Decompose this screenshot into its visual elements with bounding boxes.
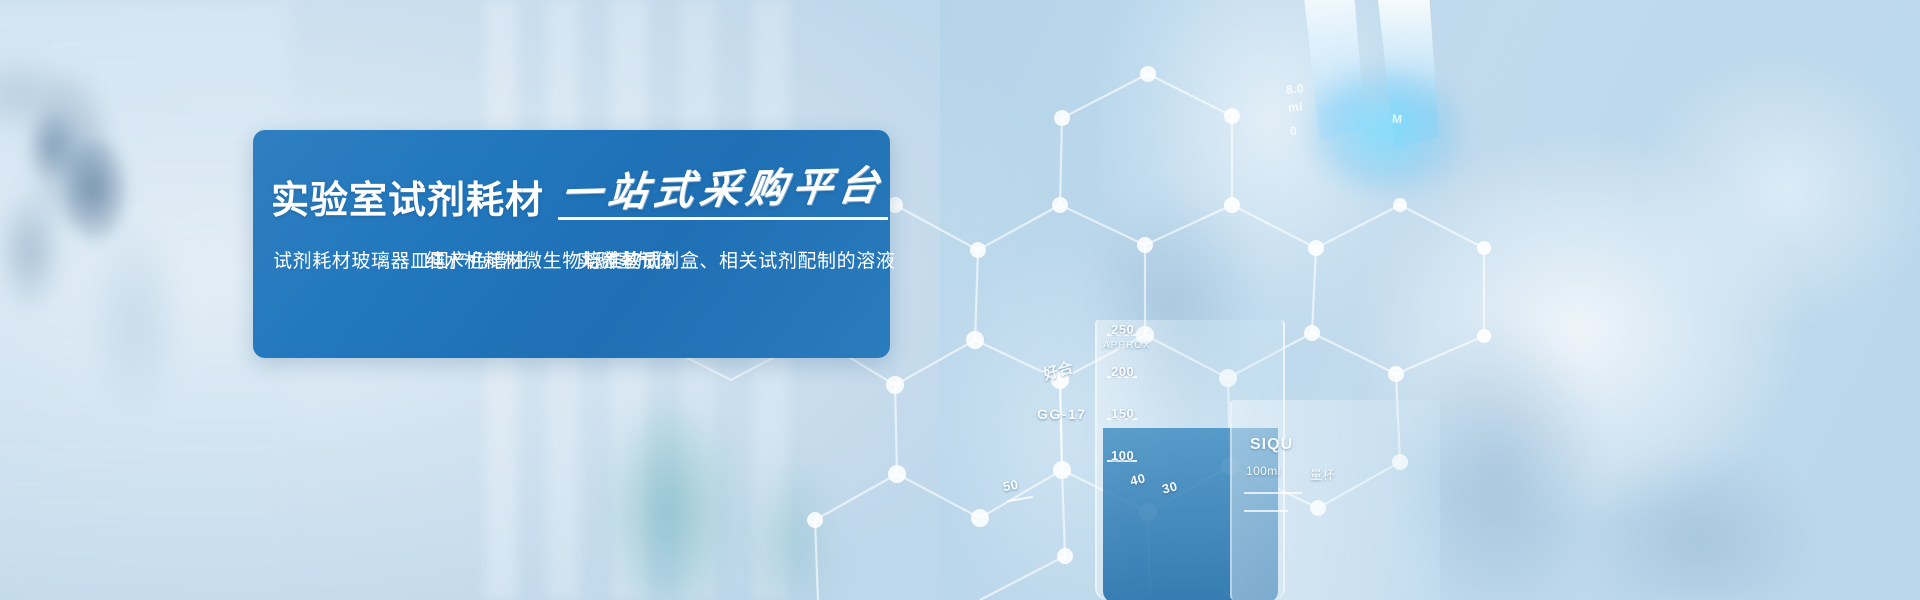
headline-primary: 实验室试剂耗材	[271, 182, 544, 220]
beaker-tick-label-50: 50	[1002, 477, 1020, 494]
headline-row: 实验室试剂耗材 一站式采购平台	[271, 162, 890, 220]
category-item-glassware[interactable]: 玻璃器皿	[351, 246, 429, 273]
category-item-water-purifier-consumables[interactable]: 纯水机耗材	[425, 246, 523, 273]
cylinder-volume-label: 100ml	[1246, 464, 1281, 478]
background-green-glassware	[540, 330, 870, 600]
tube-label-unit: ml	[1287, 99, 1303, 114]
tube-label-molar: M	[1392, 112, 1403, 127]
category-list: 试剂耗材 玻璃器皿 国产色谱柱 标准物质 纯水机耗材 微生物培养基 试剂盒、相关…	[271, 246, 890, 273]
tube-label-zero: 0	[1289, 124, 1298, 139]
category-row-2: 纯水机耗材 微生物培养基 试剂盒、相关试剂配制的溶液	[425, 246, 577, 273]
graduated-cylinder-graphic: SIQU 100ml 量杯	[1230, 400, 1440, 600]
cylinder-brand-label: SIQU	[1250, 436, 1293, 454]
cylinder-tick-2	[1244, 510, 1288, 512]
promo-card: 实验室试剂耗材 一站式采购平台 试剂耗材 玻璃器皿 国产色谱柱 标准物质 纯水机…	[253, 130, 890, 358]
background-microscope-lens	[0, 60, 200, 360]
cylinder-tick-1	[1244, 492, 1302, 494]
cylinder-sub-label: 量杯	[1310, 466, 1335, 483]
beaker-brand-label: GG-17	[1037, 406, 1087, 422]
lab-hero-banner: 8.0 ml 0 M 好合 GG-17 250 APPROX 200 150 1…	[0, 0, 1920, 600]
category-item-laboratory-gases[interactable]: 实验室气体	[577, 246, 729, 273]
beaker-tick-label-200: 200	[1111, 364, 1134, 379]
tube-label-volume: 8.0	[1285, 81, 1305, 97]
category-item-reagent-consumables[interactable]: 试剂耗材	[273, 246, 351, 273]
category-row-1: 试剂耗材 玻璃器皿 国产色谱柱 标准物质	[273, 246, 425, 273]
headline-brush: 一站式采购平台	[559, 165, 888, 215]
background-cyan-light-glow	[1300, 60, 1470, 200]
beaker-approx-label: APPROX	[1103, 340, 1151, 351]
beaker-tick-label-250: 250	[1111, 322, 1134, 337]
category-row-3: 实验室气体	[577, 246, 890, 273]
beaker-tick-label-150: 150	[1111, 406, 1134, 421]
headline-brush-underline: 一站式采购平台	[558, 169, 888, 220]
beaker-tick-label-100: 100	[1111, 448, 1134, 463]
